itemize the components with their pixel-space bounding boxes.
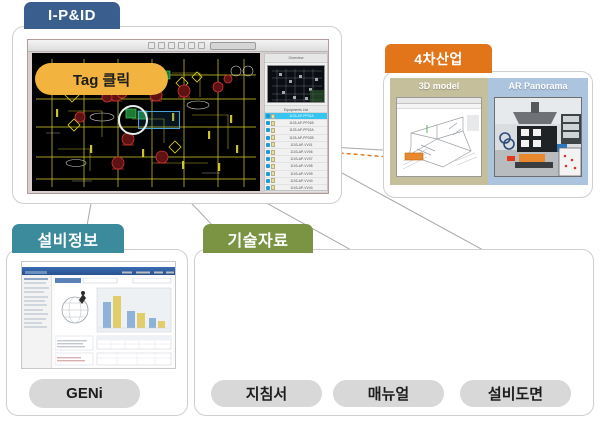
geni-dashboard [55, 278, 173, 367]
tab-industry-label: 4차산업 [414, 49, 462, 69]
caption-geni[interactable]: GENi [29, 379, 140, 408]
tag-label: 1103-AP-VV07 [276, 157, 327, 161]
pid-side-panel[interactable]: Overview [264, 53, 328, 191]
3d-model-drawing [397, 109, 482, 177]
tag-label: 1103-AP-VV06 [276, 150, 327, 154]
3d-model-title: 3D model [390, 81, 488, 91]
caption-geni-label: GENi [66, 385, 103, 402]
geni-screenshot[interactable] [21, 261, 176, 369]
tag-checkbox-icon[interactable] [266, 150, 270, 154]
tag-label: 1103-AP-VV46 [276, 193, 327, 194]
sidebar-item[interactable] [24, 313, 48, 315]
sidebar-item[interactable] [24, 291, 44, 293]
sidebar-item[interactable] [24, 322, 42, 324]
pid-toolbar-button[interactable] [210, 42, 256, 50]
tag-checkbox-icon[interactable] [266, 143, 270, 147]
section-tab-facility[interactable]: 설비정보 [12, 224, 124, 253]
tag-label: 1103-AP-VV43 [276, 186, 327, 190]
tag-click-callout[interactable]: Tag 클릭 [35, 63, 168, 95]
geni-top-bar [22, 262, 175, 267]
sidebar-item[interactable] [24, 318, 46, 320]
equipment-tag-row[interactable]: 1103-AP-VV43 [265, 185, 327, 192]
tag-label: 1103-AP-VV40 [276, 179, 327, 183]
equipment-tag-list[interactable]: 1103-AP-PP01A1103-AP-PP01B1103-AP-PP02A1… [265, 113, 327, 194]
sidebar-item[interactable] [24, 304, 47, 306]
sidebar-item[interactable] [24, 309, 43, 311]
tag-document-icon[interactable] [271, 121, 275, 126]
tag-checkbox-icon[interactable] [266, 179, 270, 183]
tag-label: 1103-AP-PP01A [276, 114, 327, 118]
ar-panorama-title: AR Panorama [488, 81, 588, 91]
caption-equipment-drawing-label: 설비도면 [488, 383, 543, 404]
tag-document-icon[interactable] [271, 171, 275, 176]
tab-ipid-label: I-P&ID [48, 7, 96, 24]
tag-checkbox-icon[interactable] [266, 164, 270, 168]
equipment-tag-row[interactable]: 1103-AP-VV09 [265, 171, 327, 178]
tag-checkbox-icon[interactable] [266, 121, 270, 125]
equipment-tag-row[interactable]: 1103-AP-VV46 [265, 192, 327, 194]
panel-industry: 3D model [383, 71, 593, 198]
tag-document-icon[interactable] [271, 185, 275, 190]
3d-model-screenshot[interactable] [396, 97, 482, 177]
tag-label: 1103-AP-VV08 [276, 164, 327, 168]
caption-manual-label: 매뉴얼 [368, 383, 409, 404]
equipment-tag-row[interactable]: 1103-AP-PP02B [265, 135, 327, 142]
panel-ipid: Overview [12, 26, 342, 204]
tag-checkbox-icon[interactable] [266, 157, 270, 161]
ar-panorama-screenshot[interactable] [494, 97, 582, 177]
tag-click-label: Tag 클릭 [73, 69, 130, 90]
column-ar-panorama: AR Panorama [488, 78, 588, 185]
column-3d-model: 3D model [390, 78, 488, 185]
pid-title-bar [28, 40, 328, 52]
tag-document-icon[interactable] [271, 193, 275, 194]
industry-columns: 3D model [390, 78, 588, 185]
tag-checkbox-icon[interactable] [266, 128, 270, 132]
tag-label: 1103-AP-PP02B [276, 136, 327, 140]
sidebar-item[interactable] [24, 282, 46, 284]
overview-caption: Overview [265, 54, 327, 63]
tab-tech-label: 기술자료 [228, 227, 289, 251]
tab-facility-label: 설비정보 [38, 227, 99, 251]
equipment-tag-row[interactable]: 1103-AP-VV40 [265, 178, 327, 185]
toolbar-icon-3[interactable] [168, 42, 175, 49]
overview-minimap [268, 66, 325, 103]
tag-document-icon[interactable] [271, 114, 275, 119]
caption-guideline-label: 지침서 [246, 383, 287, 404]
caption-manual[interactable]: 매뉴얼 [333, 380, 444, 407]
toolbar-icon-1[interactable] [148, 42, 155, 49]
geni-sidebar[interactable] [22, 275, 52, 369]
sidebar-item[interactable] [24, 296, 48, 298]
caption-equipment-drawing[interactable]: 설비도면 [460, 380, 571, 407]
tag-label: 1103-AP-VV09 [276, 172, 327, 176]
tag-checkbox-icon[interactable] [266, 193, 270, 194]
tag-document-icon[interactable] [271, 142, 275, 147]
tag-label: 1103-AP-PP01B [276, 121, 327, 125]
geni-content-area [22, 275, 175, 369]
tag-document-icon[interactable] [271, 178, 275, 183]
toolbar-icon-2[interactable] [158, 42, 165, 49]
equipment-tag-row[interactable]: 1103-AP-VV01 [265, 142, 327, 149]
section-tab-tech[interactable]: 기술자료 [203, 224, 313, 253]
sidebar-heading [24, 278, 48, 280]
selected-tag-circle [118, 105, 148, 135]
equipment-tag-row[interactable]: 1103-AP-PP01A [265, 113, 327, 120]
overview-thumbnail[interactable] [267, 65, 325, 103]
toolbar-icon-5[interactable] [188, 42, 195, 49]
tag-checkbox-icon[interactable] [266, 136, 270, 140]
tag-checkbox-icon[interactable] [266, 186, 270, 190]
equipment-tag-row[interactable]: 1103-AP-VV06 [265, 149, 327, 156]
tag-document-icon[interactable] [271, 157, 275, 162]
ar-panorama-photo [495, 98, 582, 177]
tag-document-icon[interactable] [271, 150, 275, 155]
tag-label: 1103-AP-VV01 [276, 143, 327, 147]
equipment-tag-row[interactable]: 1103-AP-VV08 [265, 163, 327, 170]
toolbar-icon-4[interactable] [178, 42, 185, 49]
sidebar-item[interactable] [24, 287, 49, 289]
tag-document-icon[interactable] [271, 164, 275, 169]
equipment-tag-row[interactable]: 1103-AP-VV07 [265, 156, 327, 163]
tag-checkbox-icon[interactable] [266, 172, 270, 176]
tag-checkbox-icon[interactable] [266, 114, 270, 118]
equipment-tag-row[interactable]: 1103-AP-PP02A [265, 127, 327, 134]
equipment-list-caption: Equipments List [265, 105, 327, 113]
tag-label: 1103-AP-PP02A [276, 128, 327, 132]
sidebar-item[interactable] [24, 300, 45, 302]
slide-canvas: I-P&ID 4차산업 설비정보 기술자료 [0, 0, 600, 423]
section-tab-ipid[interactable]: I-P&ID [24, 2, 120, 29]
geni-main-content [52, 275, 176, 369]
toolbar-icon-6[interactable] [198, 42, 205, 49]
section-tab-industry[interactable]: 4차산업 [385, 44, 492, 73]
sidebar-item[interactable] [24, 326, 47, 328]
tag-document-icon[interactable] [271, 128, 275, 133]
tag-document-icon[interactable] [271, 135, 275, 140]
caption-guideline[interactable]: 지침서 [211, 380, 322, 407]
equipment-tag-row[interactable]: 1103-AP-PP01B [265, 120, 327, 127]
